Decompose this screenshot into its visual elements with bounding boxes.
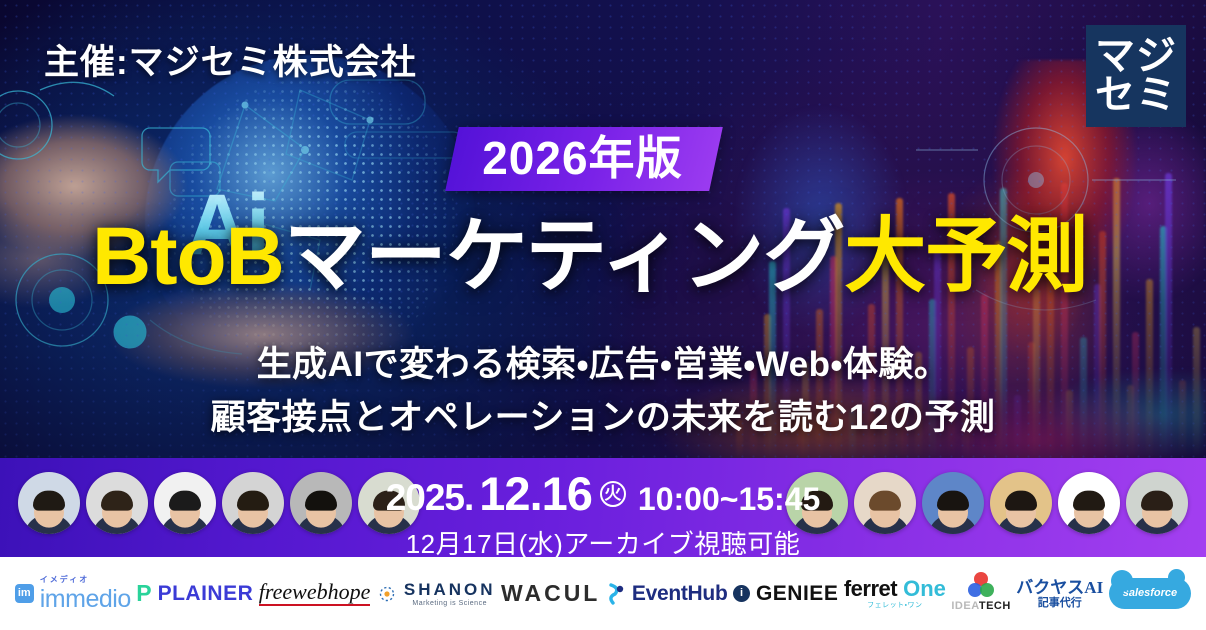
immedio-mark-icon: im [15, 584, 34, 603]
sponsor-eventhub[interactable]: EventHub [606, 583, 728, 605]
salesforce-name: salesforce [1109, 578, 1191, 609]
year-badge-label: 2026年版 [482, 135, 682, 181]
ideatech-name-b: TECH [979, 600, 1011, 612]
ferretone-sub: フェレット・ワン [867, 602, 922, 609]
sponsor-freewebhope[interactable]: freewebhope [259, 581, 371, 606]
subtitle-line-2: 顧客接点とオペレーションの未来を読む12の予測 [0, 389, 1206, 440]
shanon-name: SHANON [404, 581, 496, 598]
plainer-name: PLAINER [158, 583, 254, 604]
event-datetime: 2025.12.16 火 10:00~15:45 [0, 470, 1206, 517]
event-time: 10:00~15:45 [638, 483, 820, 515]
subtitle-line-1: 生成AIで変わる検索・広告・営業・Web・体験。 [0, 336, 1206, 387]
ferretone-name: ferret [844, 578, 897, 600]
sponsor-bakuyasu[interactable]: バクヤスAI 記事代行 [1016, 579, 1103, 609]
host-label: 主催:マジセミ株式会社 [44, 34, 417, 85]
sponsor-plainer[interactable]: P PLAINER [136, 582, 253, 605]
geniee-name: GENIEE [756, 583, 838, 604]
majisemi-logo[interactable]: マジ セミ [1086, 25, 1186, 127]
sponsor-immedio[interactable]: im イメディオ immedio [15, 576, 131, 612]
majisemi-logo-line1: マジ [1095, 37, 1177, 76]
event-day-of-week: 火 [600, 481, 626, 507]
bakuyasu-sub: 記事代行 [1038, 598, 1082, 609]
event-month-day: 12.16 [479, 470, 592, 517]
sponsor-ideatech[interactable]: IDEATECH [951, 575, 1010, 612]
shanon-burst-icon [376, 583, 398, 605]
title-part-forecast: 大予測 [844, 211, 1087, 302]
sponsor-logo-bar: im イメディオ immedio P PLAINER freewebhope [0, 557, 1206, 630]
ideatech-name-a: IDEA [951, 600, 978, 612]
ideatech-venn-icon [968, 575, 994, 599]
immedio-kana: イメディオ [40, 576, 89, 584]
eventhub-mark-icon [606, 583, 626, 605]
plainer-mark-icon: P [136, 582, 151, 605]
year-badge: 2026年版 [445, 127, 723, 191]
webinar-banner: Ai 主催:マジセミ株式会社 マジ セミ 2026年版 BtoBマーケティング大… [0, 0, 1206, 630]
sponsor-ferretone[interactable]: ferret One フェレット・ワン [844, 578, 946, 609]
archive-note: 12月17日(水)アーカイブ視聴可能 [0, 524, 1206, 561]
majisemi-logo-line2: セミ [1095, 76, 1177, 115]
ideatech-name: IDEATECH [951, 601, 1010, 612]
sponsor-geniee[interactable]: i GENIEE [733, 583, 838, 604]
ferretone-name-2: One [903, 578, 946, 600]
schedule-block: 2025.12.16 火 10:00~15:45 12月17日(水)アーカイブ視… [0, 470, 1206, 561]
event-year: 2025. [386, 479, 474, 516]
sponsor-wacul[interactable]: WACUL [501, 582, 600, 605]
geniee-mark-icon: i [733, 585, 750, 602]
title-part-marketing: マーケティング [284, 211, 844, 302]
sponsor-shanon[interactable]: SHANON Marketing is Science [376, 581, 496, 607]
bakuyasu-name: バクヤスAI [1016, 579, 1103, 596]
sponsor-salesforce[interactable]: salesforce [1109, 578, 1191, 609]
title-part-btob: BtoB [92, 211, 284, 302]
shanon-tagline: Marketing is Science [412, 600, 487, 607]
eventhub-name: EventHub [632, 583, 728, 604]
freewebhope-name: freewebhope [259, 581, 371, 606]
wacul-name: WACUL [501, 582, 600, 605]
immedio-name: immedio [40, 587, 131, 612]
page-title: BtoBマーケティング大予測 [92, 216, 1087, 298]
